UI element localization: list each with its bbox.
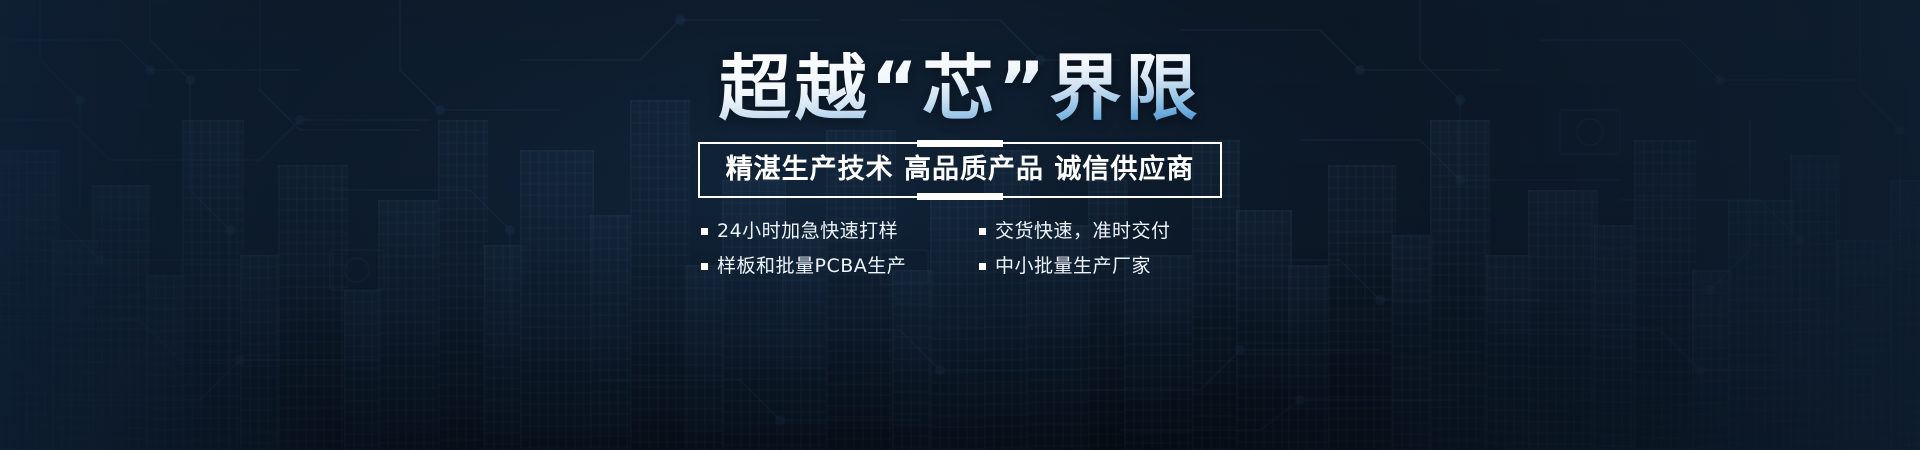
feature-item: 样板和批量PCBA生产	[701, 257, 941, 276]
subtitle-frame: 精湛生产技术 高品质产品 诚信供应商	[698, 142, 1223, 198]
feature-list: 24小时加急快速打样 交货快速，准时交付 样板和批量PCBA生产 中小批量生产厂…	[701, 222, 1219, 276]
frame-notch-bottom	[917, 193, 1003, 200]
banner-subtitle: 精湛生产技术 高品质产品 诚信供应商	[726, 155, 1195, 185]
feature-item: 中小批量生产厂家	[979, 257, 1219, 276]
square-bullet-icon	[979, 228, 986, 235]
feature-label: 样板和批量PCBA生产	[717, 257, 906, 276]
feature-item: 交货快速，准时交付	[979, 222, 1219, 241]
banner-headline: 超越“芯”界限	[719, 52, 1202, 124]
square-bullet-icon	[701, 228, 708, 235]
banner-content: 超越“芯”界限 精湛生产技术 高品质产品 诚信供应商 24小时加急快速打样 交货…	[0, 0, 1920, 450]
frame-notch-top	[917, 140, 1003, 147]
feature-label: 交货快速，准时交付	[995, 222, 1171, 241]
square-bullet-icon	[979, 263, 986, 270]
feature-label: 中小批量生产厂家	[995, 257, 1151, 276]
feature-label: 24小时加急快速打样	[717, 222, 898, 241]
square-bullet-icon	[701, 263, 708, 270]
feature-item: 24小时加急快速打样	[701, 222, 941, 241]
hero-banner: 超越“芯”界限 精湛生产技术 高品质产品 诚信供应商 24小时加急快速打样 交货…	[0, 0, 1920, 450]
